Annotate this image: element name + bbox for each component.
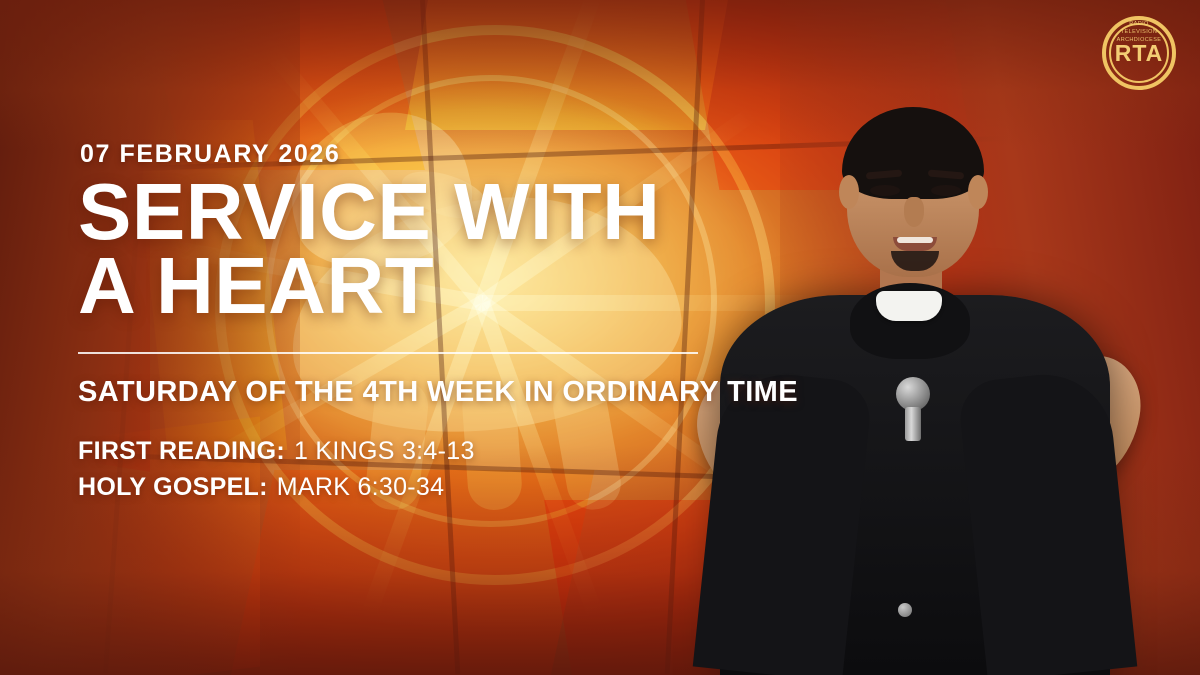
rta-logo-icon: RADIO TELEVISION ARCHDIOCESE RTA	[1102, 16, 1176, 90]
presenter-eye-right	[931, 185, 961, 196]
broadcast-graphic: 07 FEBRUARY 2026 SERVICE WITH A HEART SA…	[0, 0, 1200, 675]
readings-list: FIRST READING: 1 KINGS 3:4-13 HOLY GOSPE…	[78, 437, 920, 502]
page-title-line-1: SERVICE WITH	[78, 175, 920, 249]
presenter-ear-right	[968, 175, 988, 209]
first-reading-label: FIRST READING:	[78, 437, 285, 466]
list-item: HOLY GOSPEL: MARK 6:30-34	[78, 473, 920, 502]
liturgical-day-subtitle: SATURDAY OF THE 4TH WEEK IN ORDINARY TIM…	[78, 376, 920, 409]
first-reading-value: 1 KINGS 3:4-13	[294, 437, 475, 466]
shirt-button	[898, 603, 912, 617]
page-title-line-2: A HEART	[78, 249, 920, 323]
holy-gospel-value: MARK 6:30-34	[277, 473, 445, 502]
title-block: 07 FEBRUARY 2026 SERVICE WITH A HEART SA…	[70, 140, 920, 509]
list-item: FIRST READING: 1 KINGS 3:4-13	[78, 437, 920, 466]
holy-gospel-label: HOLY GOSPEL:	[78, 473, 268, 502]
divider	[78, 352, 698, 354]
page-title: SERVICE WITH A HEART	[78, 175, 920, 322]
broadcast-date: 07 FEBRUARY 2026	[80, 140, 920, 169]
logo-monogram: RTA	[1102, 16, 1176, 90]
